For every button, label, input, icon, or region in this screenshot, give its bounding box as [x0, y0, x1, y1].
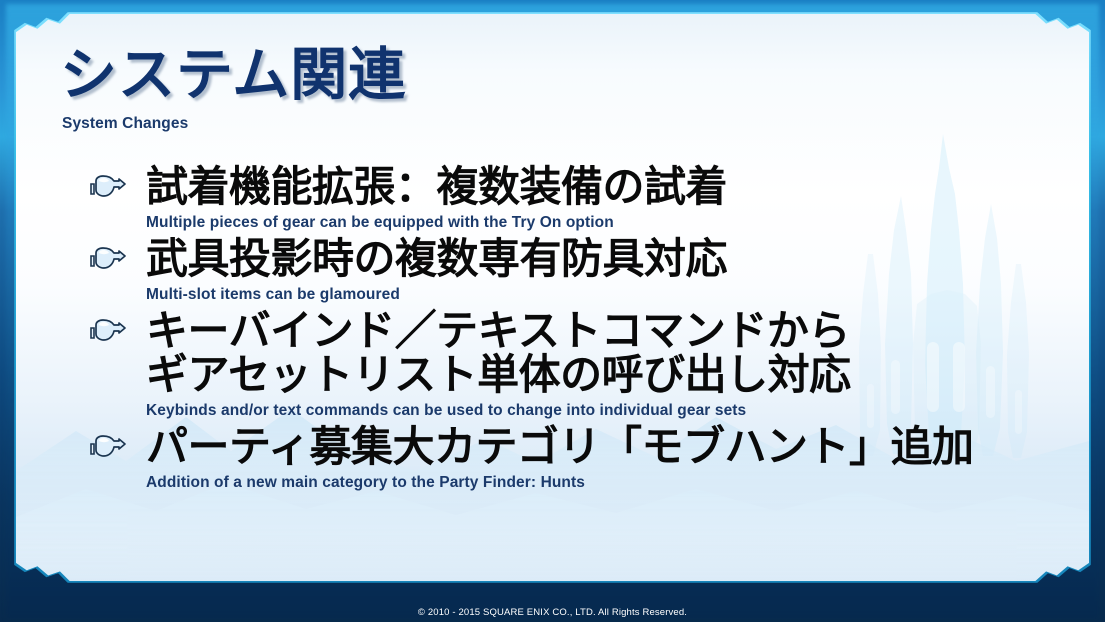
list-item-body: 試着機能拡張：複数装備の試着 Multiple pieces of gear c… [86, 166, 1086, 232]
page-title: システム関連 [60, 47, 406, 104]
list-item-heading: 試着機能拡張：複数装備の試着 [146, 166, 1086, 209]
list-item: 試着機能拡張：複数装備の試着 Multiple pieces of gear c… [86, 166, 1086, 232]
list-item-heading: パーティ募集大カテゴリ「モブハント」追加 [146, 426, 1086, 469]
list-item-description: Keybinds and/or text commands can be use… [146, 402, 1086, 420]
list-item-heading: 武具投影時の複数専有防具対応 [146, 238, 1086, 281]
list-item-heading-line2: ギアセットリスト単体の呼び出し対応 [146, 354, 1086, 397]
list-item-description: Multiple pieces of gear can be equipped … [146, 214, 1086, 232]
list-item: 武具投影時の複数専有防具対応 Multi-slot items can be g… [86, 238, 1086, 304]
pointing-hand-icon [86, 172, 130, 206]
bullet-list: 試着機能拡張：複数装備の試着 Multiple pieces of gear c… [86, 166, 1086, 496]
list-item-heading: キーバインド／テキストコマンドから [146, 310, 1086, 353]
list-item: キーバインド／テキストコマンドから ギアセットリスト単体の呼び出し対応 Keyb… [86, 310, 1086, 421]
copyright-footer: © 2010 - 2015 SQUARE ENIX CO., LTD. All … [0, 607, 1105, 618]
list-item-body: 武具投影時の複数専有防具対応 Multi-slot items can be g… [86, 238, 1086, 304]
page-subtitle: System Changes [62, 115, 188, 133]
pointing-hand-icon [86, 244, 130, 278]
content-panel: システム関連 System Changes 試着機能拡張：複数装備の試着 Mu [16, 14, 1089, 581]
pointing-hand-icon [86, 432, 130, 466]
pointing-hand-icon [86, 316, 130, 350]
list-item-body: キーバインド／テキストコマンドから ギアセットリスト単体の呼び出し対応 Keyb… [86, 310, 1086, 421]
list-item-description: Addition of a new main category to the P… [146, 474, 1086, 492]
list-item-description: Multi-slot items can be glamoured [146, 286, 1086, 304]
list-item-body: パーティ募集大カテゴリ「モブハント」追加 Addition of a new m… [86, 426, 1086, 492]
slide-content: システム関連 System Changes 試着機能拡張：複数装備の試着 Mu [16, 14, 1089, 581]
list-item: パーティ募集大カテゴリ「モブハント」追加 Addition of a new m… [86, 426, 1086, 492]
presentation-slide: システム関連 System Changes 試着機能拡張：複数装備の試着 Mu [0, 0, 1105, 622]
